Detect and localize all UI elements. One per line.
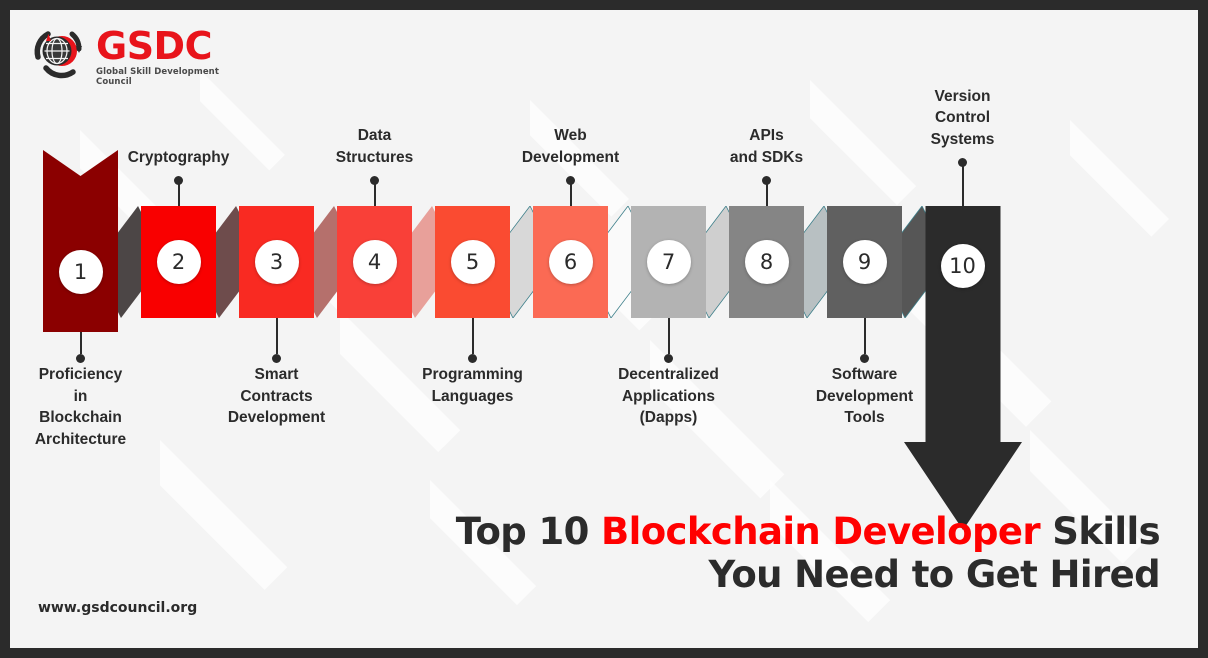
step-block-6[interactable]: 6 <box>533 206 608 318</box>
leader-dot <box>664 354 673 363</box>
step-label-4: Data Structures <box>287 125 463 168</box>
step-block-2[interactable]: 2 <box>141 206 216 318</box>
title-highlight: Blockchain Developer <box>601 510 1040 553</box>
step-number-badge: 6 <box>549 240 593 284</box>
step-label-7: Decentralized Applications (Dapps) <box>581 364 757 429</box>
leader-line <box>864 318 866 354</box>
leader-dot <box>370 176 379 185</box>
step-number-badge: 3 <box>255 240 299 284</box>
leader-line <box>276 318 278 354</box>
leader-dot <box>272 354 281 363</box>
step-block-3[interactable]: 3 <box>239 206 314 318</box>
step-number-badge: 2 <box>157 240 201 284</box>
step-label-8: APIs and SDKs <box>679 125 855 168</box>
step-number-badge: 4 <box>353 240 397 284</box>
step-number-badge: 7 <box>647 240 691 284</box>
step-number-badge: 8 <box>745 240 789 284</box>
leader-dot <box>860 354 869 363</box>
website-url[interactable]: www.gsdcouncil.org <box>38 600 197 616</box>
leader-dot <box>174 176 183 185</box>
leader-dot <box>762 176 771 185</box>
step-block-8[interactable]: 8 <box>729 206 804 318</box>
step-label-1: Proficiency in Blockchain Architecture <box>10 364 169 450</box>
step-block-5[interactable]: 5 <box>435 206 510 318</box>
leader-dot <box>468 354 477 363</box>
step-block-10[interactable]: 10 <box>925 206 1000 390</box>
page-title: Top 10 Blockchain Developer Skills You N… <box>456 510 1160 596</box>
step-block-4[interactable]: 4 <box>337 206 412 318</box>
step-number-badge: 9 <box>843 240 887 284</box>
title-pre: Top 10 <box>456 510 601 553</box>
leader-line <box>668 318 670 354</box>
leader-dot <box>958 158 967 167</box>
step-block-1[interactable]: 1 <box>43 150 118 332</box>
step-label-6: Web Development <box>483 125 659 168</box>
leader-dot <box>76 354 85 363</box>
infographic-frame: GSDC Global Skill Development Council 1P… <box>0 0 1208 658</box>
step-number-badge: 5 <box>451 240 495 284</box>
step-block-9[interactable]: 9 <box>827 206 902 318</box>
step-number-badge: 10 <box>941 244 985 288</box>
leader-line <box>472 318 474 354</box>
leader-line <box>962 162 964 206</box>
infographic-canvas: GSDC Global Skill Development Council 1P… <box>10 10 1198 648</box>
leader-dot <box>566 176 575 185</box>
title-line-1: Top 10 Blockchain Developer Skills <box>456 510 1160 553</box>
step-label-5: Programming Languages <box>385 364 561 407</box>
step-number-badge: 1 <box>59 250 103 294</box>
step-label-10: Version Control Systems <box>875 86 1051 151</box>
step-label-3: Smart Contracts Development <box>189 364 365 429</box>
title-line-2: You Need to Get Hired <box>456 553 1160 596</box>
ribbon-shape <box>43 150 118 332</box>
step-block-7[interactable]: 7 <box>631 206 706 318</box>
title-post: Skills <box>1040 510 1160 553</box>
